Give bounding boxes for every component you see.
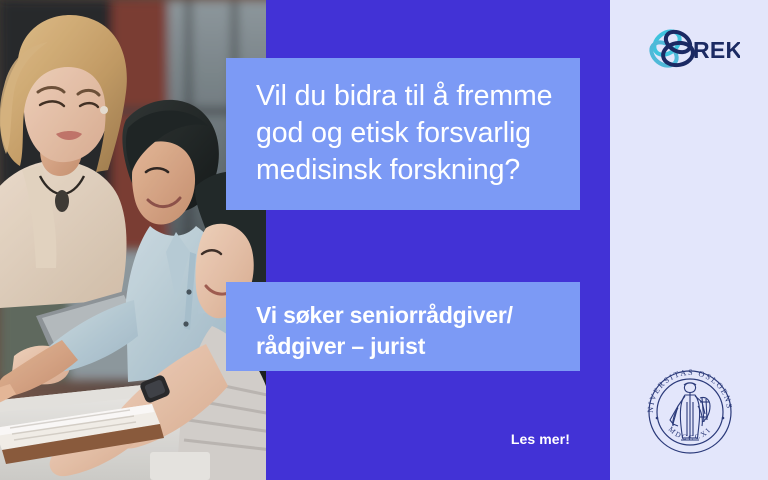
rek-logo[interactable]: REK [648, 26, 740, 74]
uio-university-seal-icon: UNIVERSITAS OSLOENSIS MDCCCXI [640, 362, 740, 462]
rek-wordmark: REK [693, 37, 740, 63]
rek-interlocking-rings-icon [648, 27, 695, 71]
role-text: Vi søker seniorrådgiver/ rådgiver – juri… [256, 300, 554, 362]
read-more-link[interactable]: Les mer! [380, 431, 570, 447]
role-card: Vi søker seniorrådgiver/ rådgiver – juri… [226, 282, 580, 371]
headline-text: Vil du bidra til å fremme god og etisk f… [256, 78, 554, 189]
uio-seal: UNIVERSITAS OSLOENSIS MDCCCXI [640, 362, 740, 462]
recruitment-banner: Vil du bidra til å fremme god og etisk f… [0, 0, 768, 480]
headline-card: Vil du bidra til å fremme god og etisk f… [226, 58, 580, 210]
